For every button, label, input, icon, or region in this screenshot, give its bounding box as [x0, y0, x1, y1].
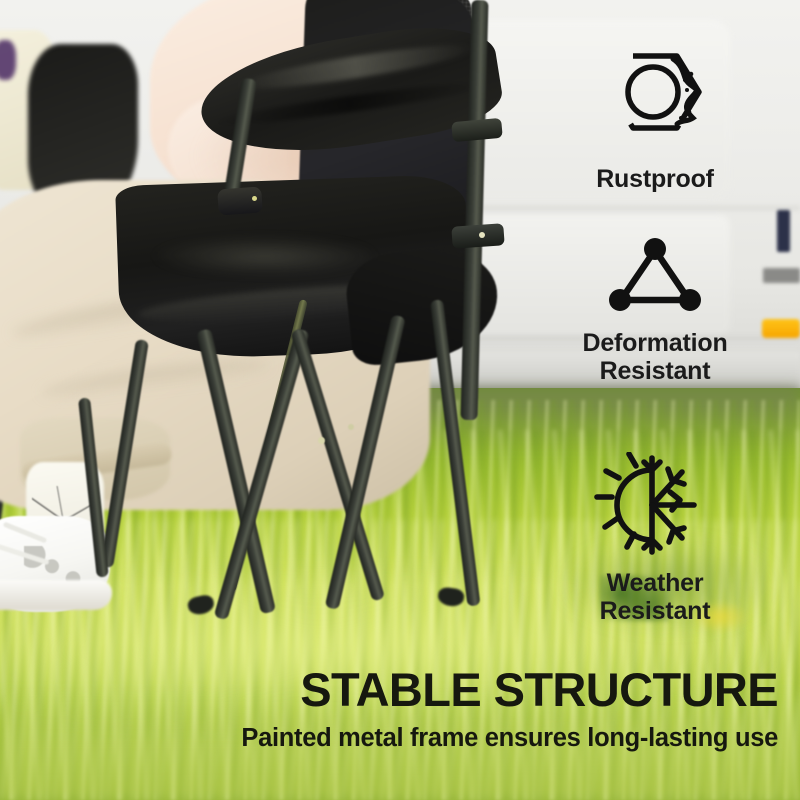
page-title: STABLE STRUCTURE	[0, 666, 778, 713]
feature-rustproof-label: Rustproof	[596, 165, 714, 193]
feature-weather-label-line1: Weather	[607, 569, 704, 597]
chair-seat-highlight	[150, 236, 380, 276]
feature-weather-label: Weather Resistant	[600, 569, 711, 625]
feature-deformation-label-line1: Deformation	[582, 329, 727, 357]
page-subtitle: Painted metal frame ensures long-lasting…	[0, 726, 778, 752]
chair-frame-bracket	[451, 223, 504, 249]
secondary-chair-accent	[0, 40, 16, 80]
headline-block: STABLE STRUCTURE Painted metal frame ens…	[0, 666, 800, 752]
sneaker-sole	[0, 580, 112, 610]
triangle-nodes-icon	[603, 236, 707, 323]
feature-rustproof: Rustproof	[540, 46, 770, 193]
feature-deformation-label: Deformation Resistant	[582, 329, 727, 385]
chair-bracket-rivet	[252, 196, 257, 201]
feature-weather-label-line2: Resistant	[600, 597, 711, 625]
feature-deformation-label-line2: Resistant	[600, 357, 711, 385]
feature-weather-resistant: Weather Resistant	[540, 452, 770, 625]
chair-armrest-bracket	[217, 186, 263, 215]
rv-trim-navy	[777, 210, 790, 252]
rusted-hex-nut-icon	[597, 46, 713, 159]
sun-snowflake-icon	[594, 452, 716, 563]
product-infographic: Rustproof Deformation Resistant	[0, 0, 800, 800]
chair-x-joint-rivet	[318, 437, 325, 444]
chair-x-joint-rivet	[348, 424, 354, 430]
feature-deformation-resistant: Deformation Resistant	[540, 236, 770, 385]
chair-bracket-rivet	[479, 232, 485, 238]
